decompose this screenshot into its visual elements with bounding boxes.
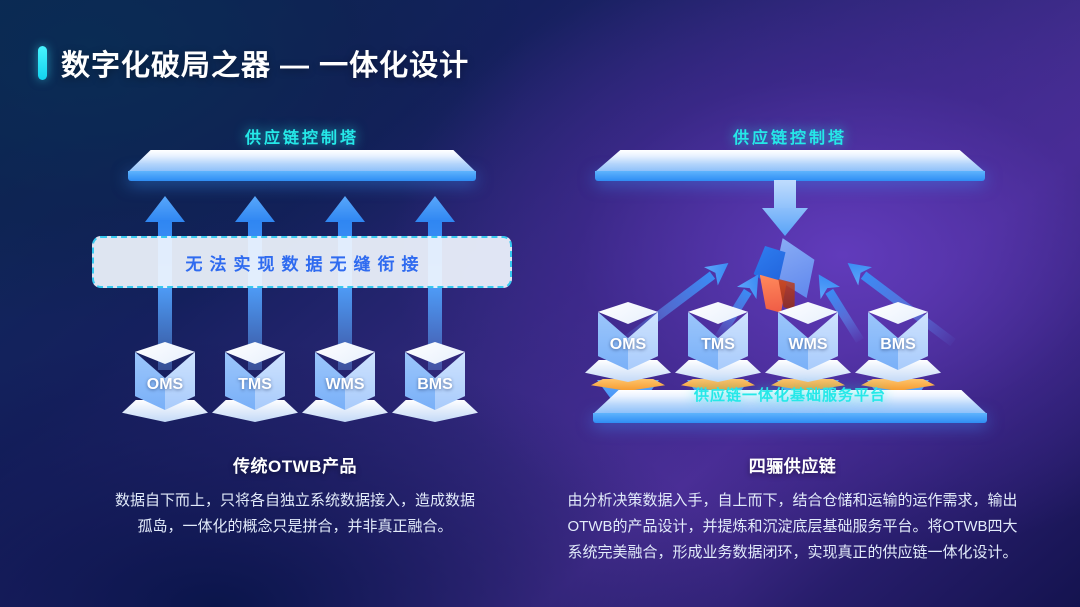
left-control-tower-label: 供应链控制塔 [128,124,476,148]
integrated-platform-slab: 供应链一体化基础服务平台 [593,390,987,414]
slab-top-face [595,150,985,172]
right-caption-title: 四骊供应链 [520,452,1065,477]
arrow-head [235,196,275,222]
title-accent-bar [38,46,47,80]
right-cube-oms: OMS [585,296,671,392]
cube-label: OMS [585,336,671,354]
cube-label: TMS [212,376,298,394]
left-caption: 传统OTWB产品 数据自下而上，只将各自独立系统数据接入，造成数据 孤岛，一体化… [60,452,530,540]
slide-canvas: 数字化破局之器 — 一体化设计 供应链控制塔 无法实现数据无缝衔接 [0,0,1080,607]
cube-label: TMS [675,336,761,354]
cube-label: WMS [765,336,851,354]
arrow-head [415,196,455,222]
slab-top-face [128,150,476,172]
left-control-tower-slab: 供应链控制塔 [128,150,476,172]
cube-label: BMS [392,376,478,394]
left-caption-line-1: 数据自下而上，只将各自独立系统数据接入，造成数据 [60,488,530,514]
no-seamless-data-note: 无法实现数据无缝衔接 [92,236,512,288]
slab-edge [593,413,987,423]
title-label: 数字化破局之器 — 一体化设计 [61,42,469,84]
right-caption-line-3: 系统完美融合，形成业务数据闭环，实现真正的供应链一体化设计。 [520,540,1065,566]
left-cube-oms: OMS [122,336,208,432]
right-cube-bms: BMS [855,296,941,392]
integrated-platform-label: 供应链一体化基础服务平台 [593,384,987,405]
left-caption-line-2: 孤岛，一体化的概念只是拼合，并非真正融合。 [60,514,530,540]
arrow-head [762,208,808,236]
left-diagram-panel: 供应链控制塔 无法实现数据无缝衔接 [70,118,530,448]
page-title: 数字化破局之器 — 一体化设计 [38,42,469,84]
cube-label: WMS [302,376,388,394]
right-control-tower-slab: 供应链控制塔 [595,150,985,172]
slab-edge [128,171,476,181]
right-caption-line-1: 由分析决策数据入手，自上而下，结合仓储和运输的运作需求，输出 [520,488,1065,514]
right-caption-line-2: OTWB的产品设计，并提炼和沉淀底层基础服务平台。将OTWB四大 [520,514,1065,540]
arrow-head [325,196,365,222]
arrow-head [145,196,185,222]
right-cube-tms: TMS [675,296,761,392]
right-cube-wms: WMS [765,296,851,392]
left-cube-wms: WMS [302,336,388,432]
right-caption: 四骊供应链 由分析决策数据入手，自上而下，结合仓储和运输的运作需求，输出 OTW… [520,452,1065,566]
left-cube-bms: BMS [392,336,478,432]
no-seamless-data-label: 无法实现数据无缝衔接 [179,250,426,275]
cube-label: BMS [855,336,941,354]
arrow-shaft [774,180,796,210]
left-caption-title: 传统OTWB产品 [60,452,530,477]
right-diagram-panel: 供应链控制塔 [545,118,1045,448]
cube-label: OMS [122,376,208,394]
left-cube-tms: TMS [212,336,298,432]
down-arrow-main [762,180,808,236]
right-control-tower-label: 供应链控制塔 [595,124,985,148]
